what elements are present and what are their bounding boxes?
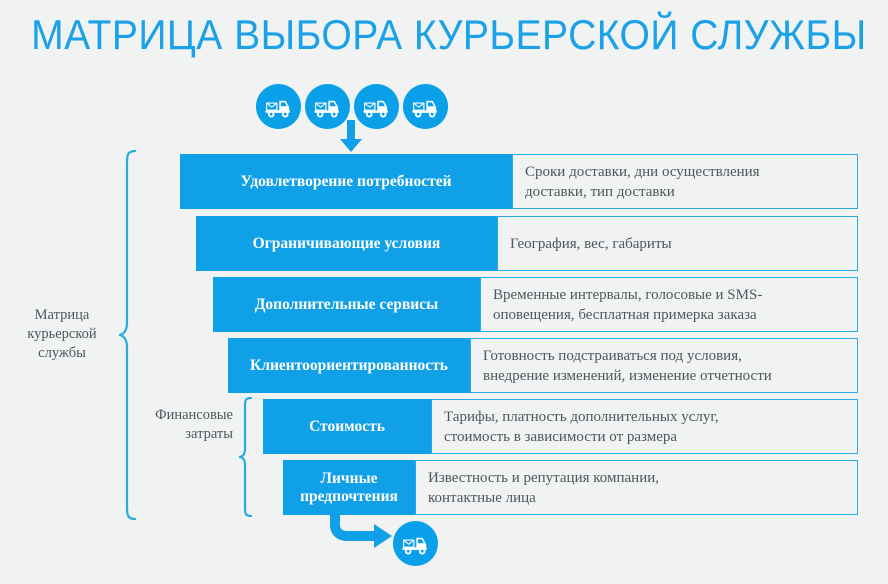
brace-matrix-label-line1: Матрица (14, 306, 110, 325)
row-label-cost[interactable]: Стоимость (263, 399, 431, 454)
matrix-row-constraints: Ограничивающие условия География, вес, г… (196, 216, 858, 271)
row-desc-line2-customer-focus: внедрение изменений, изменение отчетност… (483, 366, 772, 386)
row-desc-line1-satisfaction: Сроки доставки, дни осуществления (525, 162, 760, 182)
infographic-canvas: МАТРИЦА ВЫБОРА КУРЬЕРСКОЙ СЛУЖБЫ (0, 0, 888, 584)
row-desc-line1-constraints: География, вес, габариты (510, 234, 672, 254)
row-label-line2-personal-preferences: предпочтения (300, 488, 398, 506)
row-desc-line2-extra-services: оповещения, бесплатная примерка заказа (493, 305, 762, 325)
row-desc-line1-extra-services: Временные интервалы, голосовые и SMS- (493, 285, 762, 305)
matrix-row-customer-focus: Клиентоориентированность Готовность подс… (228, 338, 858, 393)
delivery-truck-icon-result (393, 521, 438, 566)
row-description-constraints: География, вес, габариты (497, 216, 858, 271)
brace-matrix-label-line2: курьерской (14, 325, 110, 344)
brace-financial-costs-label: Финансовые затраты (128, 406, 233, 444)
brace-matrix (118, 150, 136, 520)
delivery-truck-icon-4 (403, 84, 448, 129)
row-label-customer-focus[interactable]: Клиентоориентированность (228, 338, 470, 393)
brace-financial-label-line2: затраты (128, 425, 233, 444)
brace-financial-costs (238, 397, 252, 517)
brace-matrix-label: Матрица курьерской службы (14, 306, 110, 363)
matrix-row-extra-services: Дополнительные сервисы Временные интерва… (213, 277, 858, 332)
row-desc-line2-cost: стоимость в зависимости от размера (444, 427, 719, 447)
row-description-cost: Тарифы, платность дополнительных услуг, … (431, 399, 858, 454)
row-label-satisfaction[interactable]: Удовлетворение потребностей (180, 154, 512, 209)
row-description-customer-focus: Готовность подстраиваться под условия, в… (470, 338, 858, 393)
row-description-extra-services: Временные интервалы, голосовые и SMS- оп… (480, 277, 858, 332)
row-desc-line1-customer-focus: Готовность подстраиваться под условия, (483, 346, 772, 366)
row-label-constraints[interactable]: Ограничивающие условия (196, 216, 497, 271)
delivery-truck-icon-1 (256, 84, 301, 129)
row-desc-line1-personal-preferences: Известность и репутация компании, (428, 468, 659, 488)
matrix-row-personal-preferences: Личные предпочтения Известность и репута… (283, 460, 858, 515)
row-description-personal-preferences: Известность и репутация компании, контак… (415, 460, 858, 515)
row-description-satisfaction: Сроки доставки, дни осуществления достав… (512, 154, 858, 209)
row-desc-line2-satisfaction: доставки, тип доставки (525, 182, 760, 202)
row-desc-line2-personal-preferences: контактные лица (428, 488, 659, 508)
arrow-down-icon (337, 120, 365, 154)
brace-financial-label-line1: Финансовые (128, 406, 233, 425)
brace-matrix-label-line3: службы (14, 344, 110, 363)
matrix-row-satisfaction: Удовлетворение потребностей Сроки достав… (180, 154, 858, 209)
row-label-extra-services[interactable]: Дополнительные сервисы (213, 277, 480, 332)
row-label-line1-personal-preferences: Личные (300, 470, 398, 488)
row-label-personal-preferences[interactable]: Личные предпочтения (283, 460, 415, 515)
row-desc-line1-cost: Тарифы, платность дополнительных услуг, (444, 407, 719, 427)
page-title: МАТРИЦА ВЫБОРА КУРЬЕРСКОЙ СЛУЖБЫ (31, 10, 857, 60)
matrix-row-cost: Стоимость Тарифы, платность дополнительн… (263, 399, 858, 454)
